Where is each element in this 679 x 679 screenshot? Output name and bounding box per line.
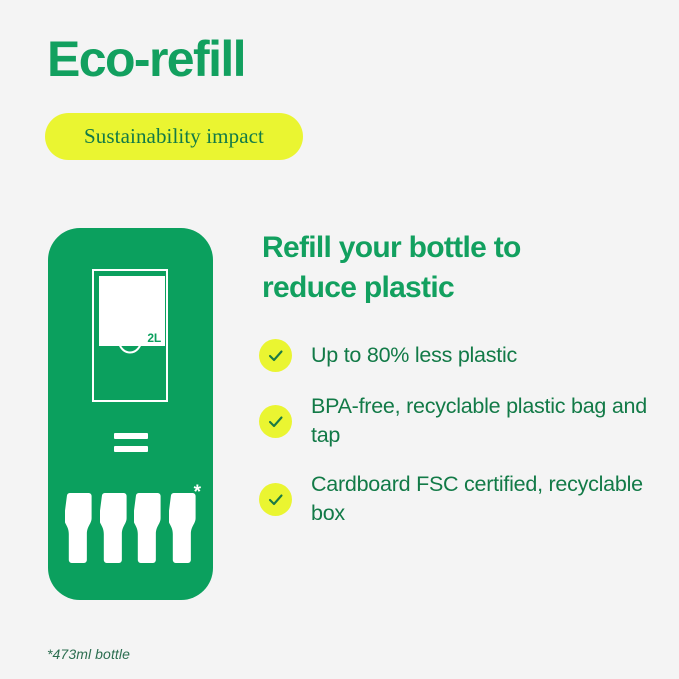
badge-label: Sustainability impact [84,124,264,149]
check-icon [259,483,292,516]
equals-sign [114,433,148,452]
check-icon [259,405,292,438]
bottle-icon [65,493,94,565]
section-heading: Refill your bottle to reduce plastic [262,228,622,308]
tap-spout-icon [109,312,153,356]
list-item: Cardboard FSC certified, recyclable box [259,470,659,528]
list-item-label: Cardboard FSC certified, recyclable box [311,470,659,528]
footnote: *473ml bottle [47,646,130,662]
bottle-icon [169,493,198,565]
bottle-icon [100,493,129,565]
eco-refill-infographic: Eco-refill Sustainability impact 2L * [0,0,679,679]
benefits-list: Up to 80% less plastic BPA-free, recycla… [259,339,659,528]
bottle-icon [134,493,163,565]
check-icon [259,339,292,372]
list-item: BPA-free, recyclable plastic bag and tap [259,392,659,450]
equals-bar-top [114,433,148,439]
bottle-row [65,493,197,565]
refill-illustration-panel: 2L * [48,228,213,600]
list-item-label: BPA-free, recyclable plastic bag and tap [311,392,659,450]
list-item-label: Up to 80% less plastic [311,341,517,370]
sustainability-impact-badge: Sustainability impact [45,113,303,160]
equals-bar-bottom [114,446,148,452]
list-item: Up to 80% less plastic [259,339,659,372]
page-title: Eco-refill [47,33,245,86]
